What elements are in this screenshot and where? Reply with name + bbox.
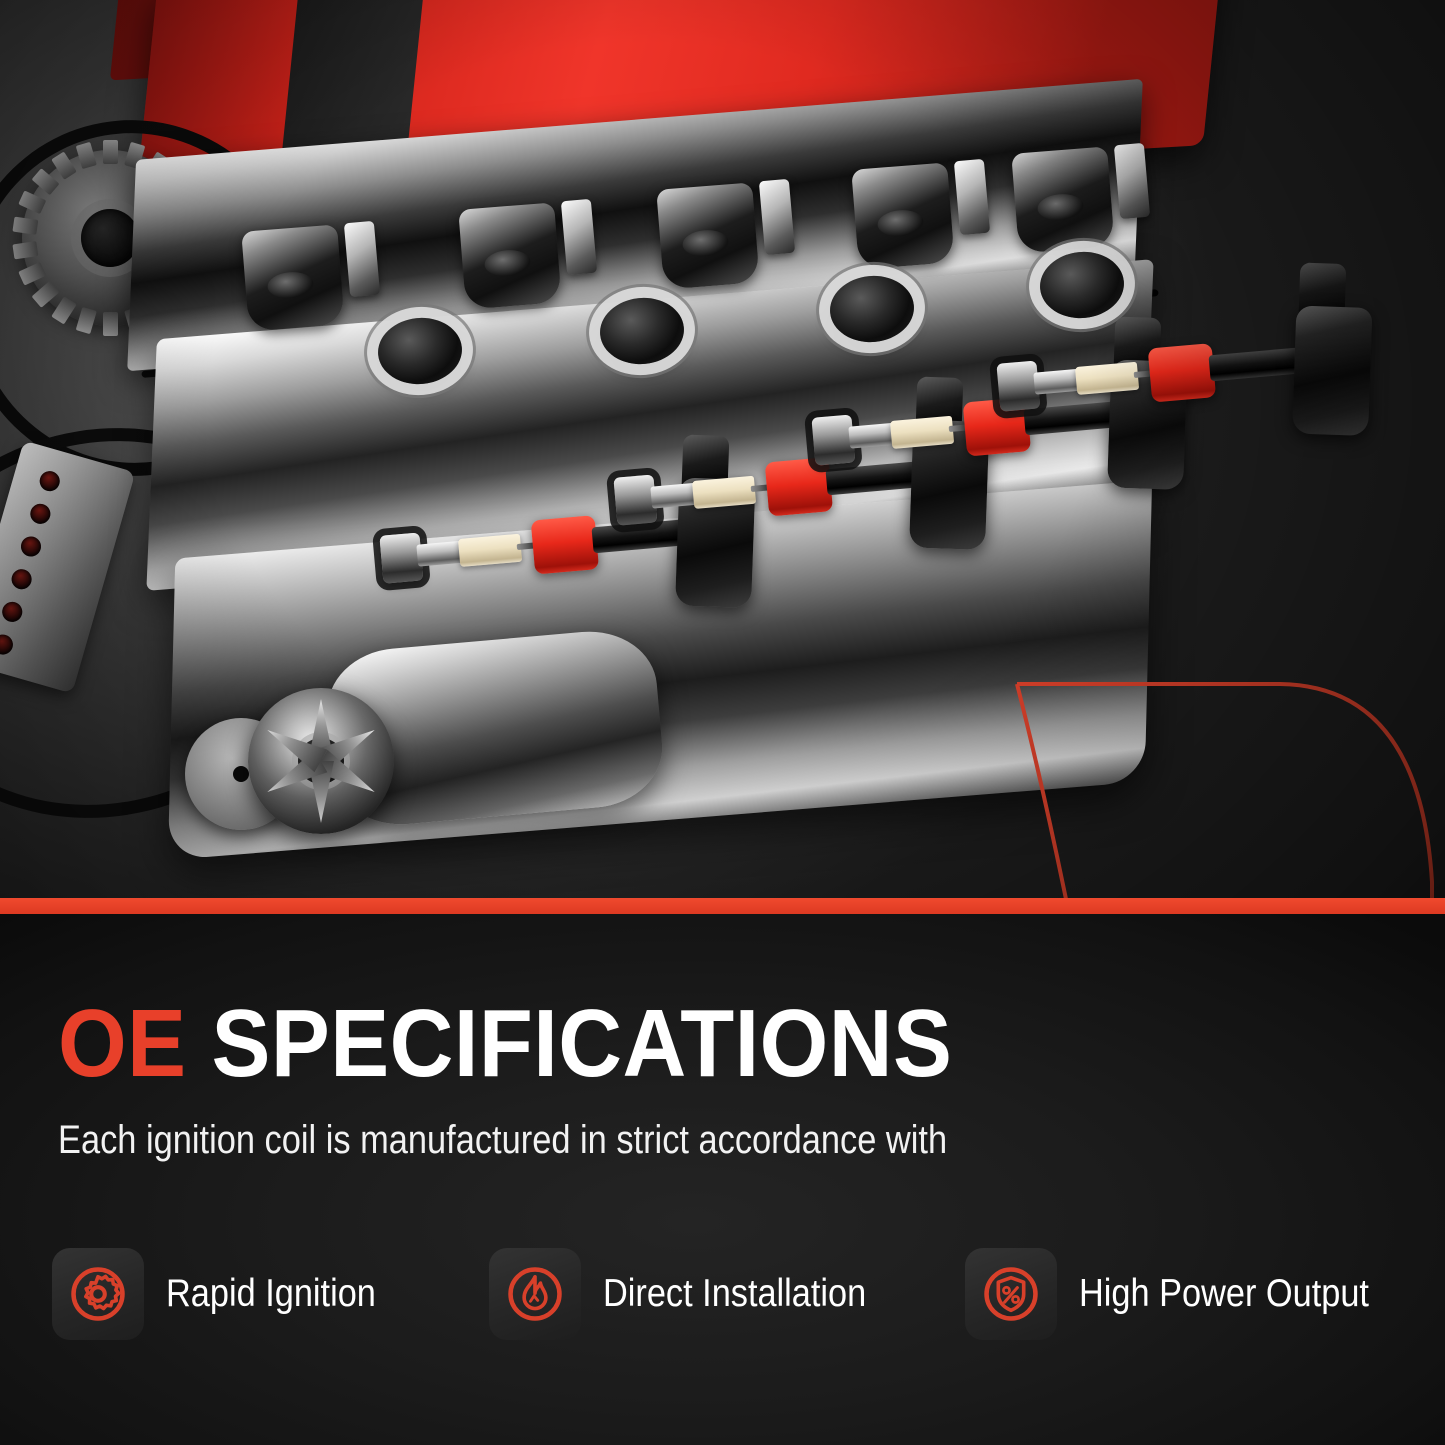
- crank-pulley: [248, 688, 394, 834]
- rocker-lobe: [656, 182, 760, 289]
- rocker-clip: [759, 179, 795, 255]
- spark-plug-insulator: [692, 476, 756, 509]
- shield-percent-icon: [965, 1248, 1057, 1340]
- bracket-hole: [19, 534, 44, 559]
- flame-icon: [489, 1248, 581, 1340]
- bracket-hole: [28, 501, 53, 526]
- feature-badge: Direct Installation: [489, 1238, 902, 1350]
- gear-icon: [52, 1248, 144, 1340]
- spark-plug-insulator: [1075, 362, 1139, 395]
- red-coil-boot: [531, 515, 599, 574]
- coil-body: [1292, 305, 1372, 436]
- rocker-lobe: [1011, 146, 1115, 253]
- headline-rest: SPECIFICATIONS: [187, 990, 953, 1097]
- subtitle: Each ignition coil is manufactured in st…: [58, 1118, 947, 1162]
- rocker-lobe: [458, 202, 562, 309]
- red-coil-boot: [765, 457, 833, 516]
- headline-accent: OE: [58, 990, 187, 1097]
- feature-label: Rapid Ignition: [166, 1272, 376, 1316]
- spark-plug-shaft: [416, 541, 464, 567]
- bracket-hole: [37, 469, 62, 494]
- hero-photo: [0, 0, 1445, 898]
- spark-plug-insulator: [458, 534, 522, 567]
- spark-plug-shaft: [1033, 369, 1081, 395]
- spark-plug-shaft: [848, 423, 896, 449]
- spark-plug-insulator: [890, 416, 954, 449]
- spark-plug-shaft: [650, 483, 698, 509]
- rocker-clip: [561, 199, 597, 275]
- bracket-hole: [0, 600, 25, 625]
- rocker-clip: [1114, 143, 1150, 219]
- feature-label: High Power Output: [1079, 1272, 1369, 1316]
- feature-badge: Rapid Ignition: [52, 1238, 405, 1350]
- feature-badge: High Power Output: [965, 1238, 1409, 1350]
- section-divider: [0, 898, 1445, 914]
- rocker-lobe: [241, 224, 345, 331]
- red-coil-boot: [1148, 343, 1216, 402]
- bracket-hole: [9, 567, 34, 592]
- bracket-hole: [0, 632, 15, 657]
- rocker-lobe: [851, 162, 955, 269]
- page-title: OE SPECIFICATIONS: [58, 996, 952, 1092]
- rocker-clip: [344, 221, 380, 297]
- coil-stem: [1208, 347, 1306, 381]
- feature-label: Direct Installation: [603, 1272, 866, 1316]
- feature-badge-row: Rapid IgnitionDirect InstallationHigh Po…: [52, 1238, 1412, 1350]
- rocker-clip: [954, 159, 990, 235]
- product-marketing-image: OE SPECIFICATIONS Each ignition coil is …: [0, 0, 1445, 1445]
